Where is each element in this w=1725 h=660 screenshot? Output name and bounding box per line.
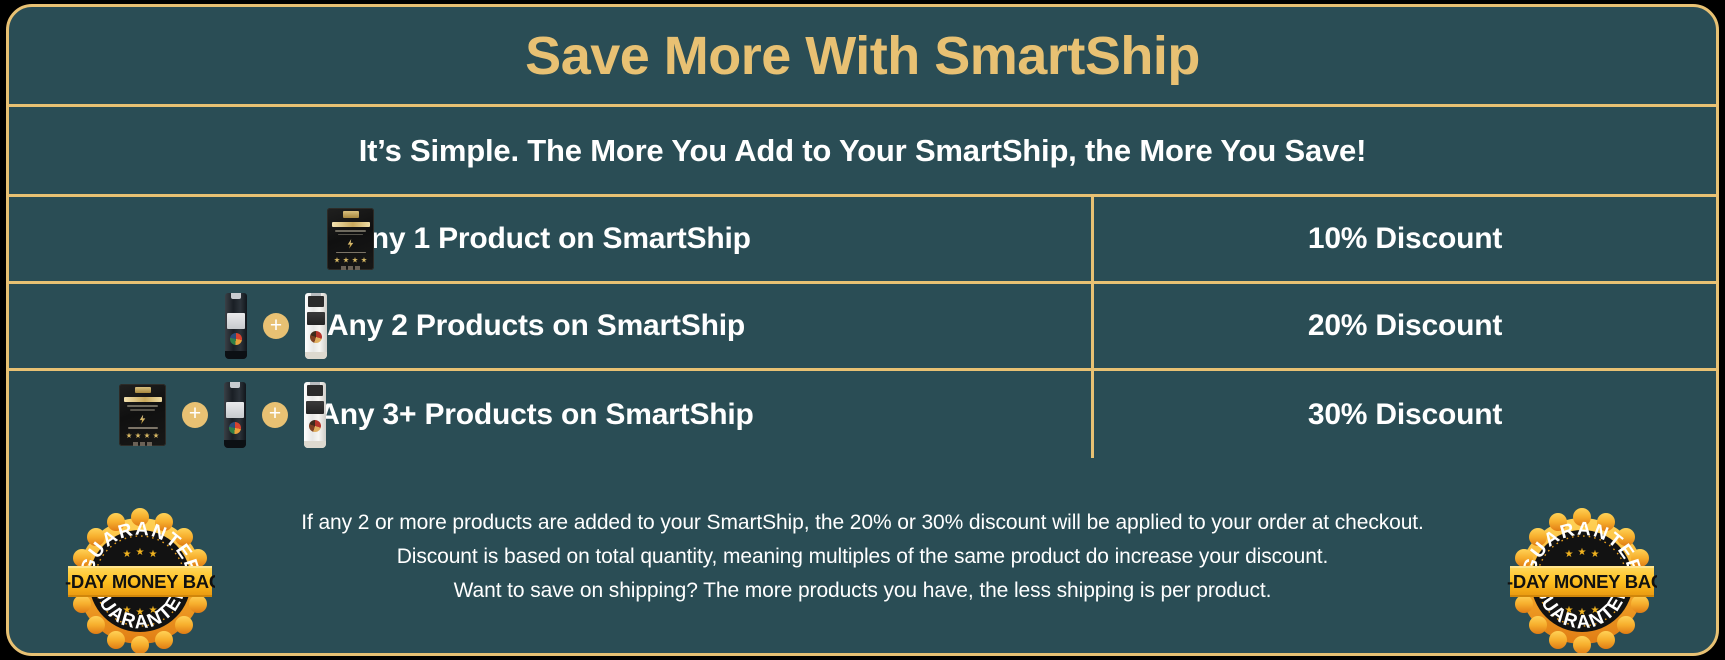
footer-line-3: Want to save on shipping? The more produ… <box>301 574 1424 608</box>
plus-glyph: + <box>269 403 281 424</box>
plus-glyph: + <box>270 315 282 336</box>
tier-products-cell: + + <box>9 371 1094 458</box>
tier-products-cell: Any 1 Product on SmartShip <box>9 197 1094 281</box>
page-subtitle: It’s Simple. The More You Add to Your Sm… <box>359 133 1366 169</box>
plus-icon: + <box>182 402 208 428</box>
discount-value: 20% Discount <box>1308 309 1502 343</box>
discount-value: 10% Discount <box>1308 222 1502 256</box>
star-icon: ★ <box>1578 547 1587 558</box>
table-row: Any 1 Product on SmartShip 10% Discount <box>9 197 1716 284</box>
star-icon: ★ <box>1591 549 1600 560</box>
title-band: Save More With SmartShip <box>9 7 1716 107</box>
star-icon: ★ <box>1578 607 1587 618</box>
star-icon: ★ <box>1565 605 1574 616</box>
footer-text: If any 2 or more products are added to y… <box>301 506 1424 608</box>
tier-discount-cell: 20% Discount <box>1094 284 1716 368</box>
product-image-xcelerate-pouch <box>327 208 374 270</box>
product-image-light-spray-can <box>305 293 327 359</box>
star-icon: ★ <box>1591 605 1600 616</box>
smartship-promo-card: Save More With SmartShip It’s Simple. Th… <box>6 4 1719 656</box>
product-image-xcelerate-pouch <box>119 384 166 446</box>
table-row: + + <box>9 371 1716 458</box>
tier-products-cell: + Any 2 Products on SmartShip <box>9 284 1094 368</box>
product-image-light-spray-can <box>304 382 326 448</box>
badge-ribbon-text: 60-DAY MONEY BACK <box>1507 571 1657 592</box>
table-row: + Any 2 Products on SmartShip 20% Discou… <box>9 284 1716 371</box>
plus-glyph: + <box>189 403 201 424</box>
tier-label: Any 2 Products on SmartShip <box>0 309 1077 343</box>
star-icon: ★ <box>123 605 132 616</box>
product-image-dark-spray-can <box>225 293 247 359</box>
star-icon: ★ <box>1565 549 1574 560</box>
subtitle-band: It’s Simple. The More You Add to Your Sm… <box>9 107 1716 197</box>
plus-icon: + <box>262 402 288 428</box>
product-cluster <box>327 208 374 270</box>
footer-line-1: If any 2 or more products are added to y… <box>301 506 1424 540</box>
star-icon: ★ <box>149 605 158 616</box>
page-title: Save More With SmartShip <box>525 29 1200 83</box>
star-icon: ★ <box>123 549 132 560</box>
star-icon: ★ <box>136 547 145 558</box>
badge-ribbon-text: 60-DAY MONEY BACK <box>65 571 215 592</box>
guarantee-badge-right: GUARANTEE GUARANTEE ★ ★ ★ ★ ★ ★ 60-DAY M… <box>1507 503 1657 653</box>
product-cluster: + + <box>119 382 326 448</box>
discount-value: 30% Discount <box>1308 398 1502 432</box>
footer-line-2: Discount is based on total quantity, mea… <box>301 540 1424 574</box>
discount-tier-table: Any 1 Product on SmartShip 10% Discount <box>9 197 1716 458</box>
money-back-guarantee-icon: GUARANTEE GUARANTEE ★ ★ ★ ★ ★ ★ 60-DAY M… <box>1507 503 1657 653</box>
tier-discount-cell: 10% Discount <box>1094 197 1716 281</box>
star-icon: ★ <box>149 549 158 560</box>
footer-note: If any 2 or more products are added to y… <box>9 461 1716 653</box>
tier-discount-cell: 30% Discount <box>1094 371 1716 458</box>
tier-label: Any 1 Product on SmartShip <box>9 222 1091 256</box>
guarantee-badge-left: GUARANTEE GUARANTEE ★ ★ ★ ★ ★ ★ <box>65 503 215 653</box>
money-back-guarantee-icon: GUARANTEE GUARANTEE ★ ★ ★ ★ ★ ★ <box>65 503 215 653</box>
plus-icon: + <box>263 313 289 339</box>
product-cluster: + <box>225 293 327 359</box>
product-image-dark-spray-can <box>224 382 246 448</box>
star-icon: ★ <box>136 607 145 618</box>
